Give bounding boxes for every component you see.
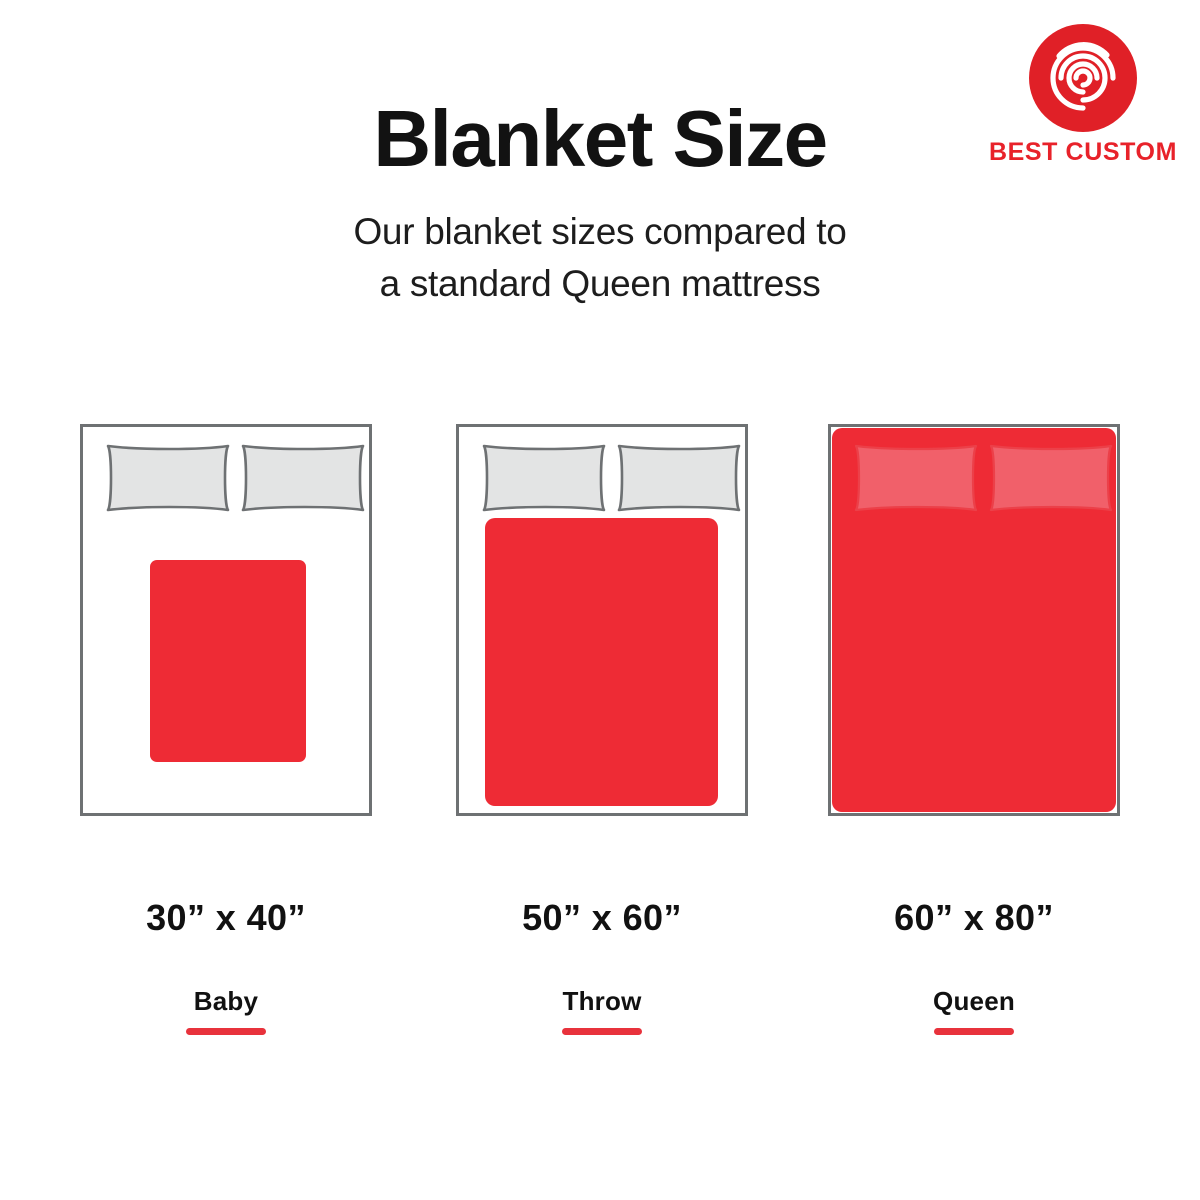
- mattress-outline-baby: [80, 424, 372, 816]
- bed-labels-row: 30” x 40” Baby 50” x 60” Throw 60” x 80”…: [0, 900, 1200, 1050]
- bed-comparison-row: [0, 424, 1200, 824]
- bed-name-queen: Queen: [828, 988, 1120, 1014]
- page-subtitle: Our blanket sizes compared to a standard…: [0, 206, 1200, 311]
- bed-label-baby: 30” x 40” Baby: [80, 900, 372, 1035]
- page-title: Blanket Size: [0, 98, 1200, 180]
- bed-diagram-baby: [80, 424, 372, 816]
- blanket-overlay-baby: [150, 560, 306, 762]
- pillow-left: [856, 446, 976, 510]
- bed-diagram-throw: [456, 424, 748, 816]
- bed-name-throw: Throw: [456, 988, 748, 1014]
- bed-dimensions-baby: 30” x 40”: [80, 900, 372, 936]
- accent-underline-throw: [562, 1028, 642, 1035]
- bed-diagram-queen: [828, 424, 1120, 816]
- bed-label-queen: 60” x 80” Queen: [828, 900, 1120, 1035]
- blanket-overlay-throw: [485, 518, 718, 806]
- page-subtitle-line-1: Our blanket sizes compared to: [0, 206, 1200, 259]
- accent-underline-baby: [186, 1028, 266, 1035]
- accent-underline-queen: [934, 1028, 1014, 1035]
- pillow-right: [243, 446, 363, 510]
- pillow-right: [991, 446, 1111, 510]
- mattress-outline-throw: [456, 424, 748, 816]
- bed-dimensions-queen: 60” x 80”: [828, 900, 1120, 936]
- header-block: Blanket Size Our blanket sizes compared …: [0, 98, 1200, 311]
- pillow-right: [619, 446, 739, 510]
- pillow-left: [108, 446, 228, 510]
- mattress-outline-queen: [828, 424, 1120, 816]
- pillow-left: [484, 446, 604, 510]
- bed-dimensions-throw: 50” x 60”: [456, 900, 748, 936]
- bed-label-throw: 50” x 60” Throw: [456, 900, 748, 1035]
- bed-name-baby: Baby: [80, 988, 372, 1014]
- page-subtitle-line-2: a standard Queen mattress: [0, 258, 1200, 311]
- infographic-canvas: BEST CUSTOM Blanket Size Our blanket siz…: [0, 0, 1200, 1200]
